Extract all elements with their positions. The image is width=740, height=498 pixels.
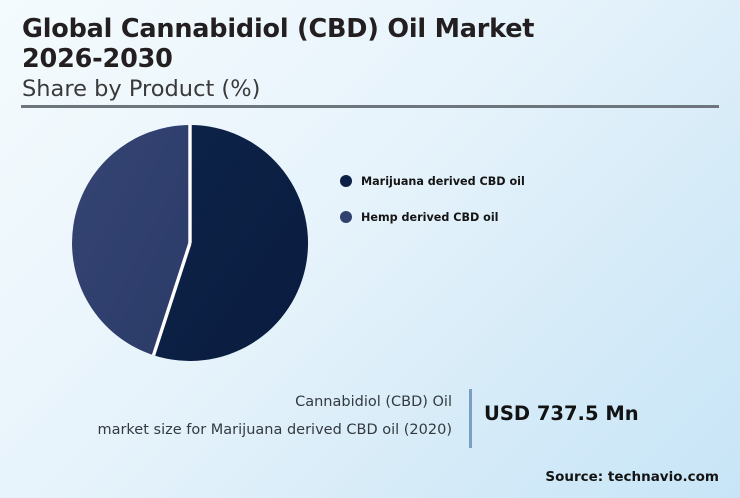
callout-description-line-1: Cannabidiol (CBD) Oil (40, 388, 452, 416)
callout-divider (469, 389, 472, 448)
callout-description: Cannabidiol (CBD) Oil market size for Ma… (40, 388, 452, 445)
pie-chart-svg (70, 123, 310, 363)
callout-value: USD 737.5 Mn (484, 402, 639, 425)
page-title: Global Cannabidiol (CBD) Oil Market 2026… (22, 14, 622, 75)
callout-description-line-2: market size for Marijuana derived CBD oi… (40, 416, 452, 444)
chart-header: Global Cannabidiol (CBD) Oil Market 2026… (22, 14, 722, 103)
pie-chart (70, 123, 310, 363)
legend-item-label: Marijuana derived CBD oil (361, 175, 525, 188)
callout-block: Cannabidiol (CBD) Oil market size for Ma… (40, 388, 700, 448)
chart-subtitle: Share by Product (%) (22, 76, 722, 103)
infographic-canvas: Global Cannabidiol (CBD) Oil Market 2026… (0, 0, 740, 498)
circle-icon (340, 175, 352, 187)
legend-item-marijuana-derived-cbd-oil[interactable]: Marijuana derived CBD oil (340, 172, 600, 190)
source-attribution: Source: technavio.com (545, 469, 719, 485)
chart-legend: Marijuana derived CBD oil Hemp derived C… (340, 172, 600, 244)
header-divider (21, 105, 719, 108)
legend-item-label: Hemp derived CBD oil (361, 211, 499, 224)
circle-icon (340, 211, 352, 223)
legend-item-hemp-derived-cbd-oil[interactable]: Hemp derived CBD oil (340, 208, 600, 226)
